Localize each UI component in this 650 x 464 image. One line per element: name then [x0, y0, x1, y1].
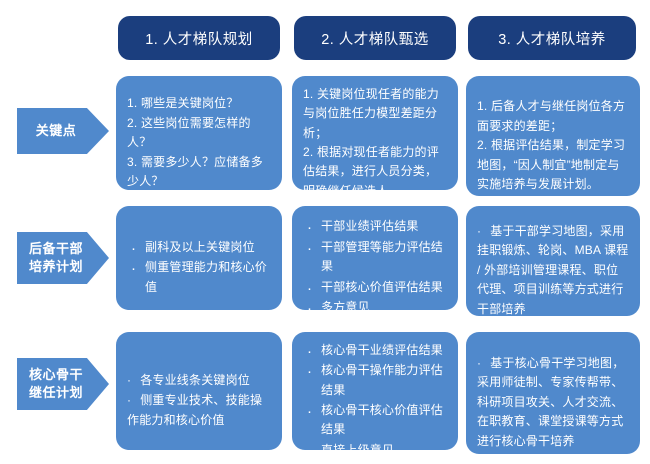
cell-content-list: 干部业绩评估结果 干部管理等能力评估结果 干部核心价值评估结果 多方意见 — [303, 217, 447, 310]
list-item: 1. 哪些是关键岗位？ — [127, 94, 271, 113]
list-item: 直接上级意见 — [303, 441, 447, 450]
list-item: 核心骨干核心价值评估结果 — [303, 401, 447, 440]
cell-content-list: 1. 后备人才与继任岗位各方面要求的差距； 2. 根据评估结果，制定学习地图，“… — [477, 97, 629, 194]
cell-content-list: 副科及以上关键岗位 侧重管理能力和核心价值 — [127, 238, 271, 298]
bullet-icon: · — [477, 224, 481, 238]
row-label-line-1: 核心骨干 — [29, 366, 83, 384]
cell-r2c3: ·基于干部学习地图，采用挂职锻炼、轮岗、MBA 课程 / 外部培训管理课程、职位… — [466, 206, 640, 316]
cell-r1c1: 1. 哪些是关键岗位？ 2. 这些岗位需要怎样的人？ 3. 需要多少人？应储备多… — [116, 76, 282, 190]
row-label-core-backbone-plan: 核心骨干 继任计划 — [17, 358, 109, 410]
talent-pipeline-matrix-diagram: 1. 人才梯队规划 2. 人才梯队甄选 3. 人才梯队培养 关键点 后备干部 培… — [0, 0, 650, 464]
row-label-reserve-cadre-plan: 后备干部 培养计划 — [17, 232, 109, 284]
row-label-line-1: 关键点 — [36, 122, 77, 140]
list-item: ·基于干部学习地图，采用挂职锻炼、轮岗、MBA 课程 / 外部培训管理课程、职位… — [477, 222, 629, 316]
column-header-label: 2. 人才梯队甄选 — [321, 28, 429, 49]
list-item: 2. 这些岗位需要怎样的人？ — [127, 114, 271, 153]
bullet-icon: · — [127, 373, 131, 387]
list-item-text: 侧重专业技术、技能操作能力和核心价值 — [127, 393, 262, 426]
row-label-line-2: 培养计划 — [29, 258, 83, 276]
bullet-icon: · — [127, 393, 131, 407]
cell-r2c2: 干部业绩评估结果 干部管理等能力评估结果 干部核心价值评估结果 多方意见 — [292, 206, 458, 310]
bullet-icon: · — [477, 356, 481, 370]
cell-content-list: ·基于核心骨干学习地图，采用师徒制、专家传帮带、科研项目攻关、人才交流、在职教育… — [477, 354, 629, 452]
row-label-line-1: 后备干部 — [29, 240, 83, 258]
cell-content-list: ·基于干部学习地图，采用挂职锻炼、轮岗、MBA 课程 / 外部培训管理课程、职位… — [477, 222, 629, 316]
list-item: 副科及以上关键岗位 — [127, 238, 271, 257]
column-header-label: 1. 人才梯队规划 — [145, 28, 253, 49]
row-label-line-2: 继任计划 — [29, 384, 83, 402]
cell-r3c2: 核心骨干业绩评估结果 核心骨干操作能力评估结果 核心骨干核心价值评估结果 直接上… — [292, 332, 458, 450]
list-item: 核心骨干业绩评估结果 — [303, 341, 447, 360]
list-item-text: 各专业线条关键岗位 — [140, 373, 250, 387]
cell-r3c1: ·各专业线条关键岗位 ·侧重专业技术、技能操作能力和核心价值 — [116, 332, 282, 450]
row-label-key-points: 关键点 — [17, 108, 109, 154]
cell-r1c2: 1. 关键岗位现任者的能力与岗位胜任力模型差距分析； 2. 根据对现任者能力的评… — [292, 76, 458, 190]
list-item: 核心骨干操作能力评估结果 — [303, 361, 447, 400]
list-item: ·基于核心骨干学习地图，采用师徒制、专家传帮带、科研项目攻关、人才交流、在职教育… — [477, 354, 629, 451]
list-item: ·侧重专业技术、技能操作能力和核心价值 — [127, 391, 271, 430]
list-item: 侧重管理能力和核心价值 — [127, 258, 271, 297]
list-item: 干部核心价值评估结果 — [303, 278, 447, 297]
list-item-text: 基于核心骨干学习地图，采用师徒制、专家传帮带、科研项目攻关、人才交流、在职教育、… — [477, 356, 624, 448]
list-item: 干部业绩评估结果 — [303, 217, 447, 236]
cell-r2c1: 副科及以上关键岗位 侧重管理能力和核心价值 — [116, 206, 282, 310]
list-item: 2. 根据对现任者能力的评估结果，进行人员分类，明确继任候选人。 — [303, 143, 447, 190]
list-item-text: 基于干部学习地图，采用挂职锻炼、轮岗、MBA 课程 / 外部培训管理课程、职位代… — [477, 224, 628, 316]
cell-content-list: 1. 哪些是关键岗位？ 2. 这些岗位需要怎样的人？ 3. 需要多少人？应储备多… — [127, 94, 271, 190]
list-item: 3. 需要多少人？应储备多少人？ — [127, 153, 271, 190]
list-item: 1. 关键岗位现任者的能力与岗位胜任力模型差距分析； — [303, 85, 447, 143]
list-item: 多方意见 — [303, 298, 447, 310]
column-header-label: 3. 人才梯队培养 — [498, 28, 606, 49]
list-item: 2. 根据评估结果，制定学习地图，“因人制宜”地制定与实施培养与发展计划。 — [477, 136, 629, 194]
cell-r1c3: 1. 后备人才与继任岗位各方面要求的差距； 2. 根据评估结果，制定学习地图，“… — [466, 76, 640, 196]
column-header-planning: 1. 人才梯队规划 — [118, 16, 280, 60]
list-item: ·各专业线条关键岗位 — [127, 371, 271, 390]
cell-content-list: 1. 关键岗位现任者的能力与岗位胜任力模型差距分析； 2. 根据对现任者能力的评… — [303, 85, 447, 190]
cell-content-list: ·各专业线条关键岗位 ·侧重专业技术、技能操作能力和核心价值 — [127, 371, 271, 431]
list-item: 干部管理等能力评估结果 — [303, 238, 447, 277]
cell-r3c3: ·基于核心骨干学习地图，采用师徒制、专家传帮带、科研项目攻关、人才交流、在职教育… — [466, 332, 640, 454]
column-header-development: 3. 人才梯队培养 — [468, 16, 636, 60]
cell-content-list: 核心骨干业绩评估结果 核心骨干操作能力评估结果 核心骨干核心价值评估结果 直接上… — [303, 341, 447, 450]
column-header-selection: 2. 人才梯队甄选 — [294, 16, 456, 60]
list-item: 1. 后备人才与继任岗位各方面要求的差距； — [477, 97, 629, 136]
